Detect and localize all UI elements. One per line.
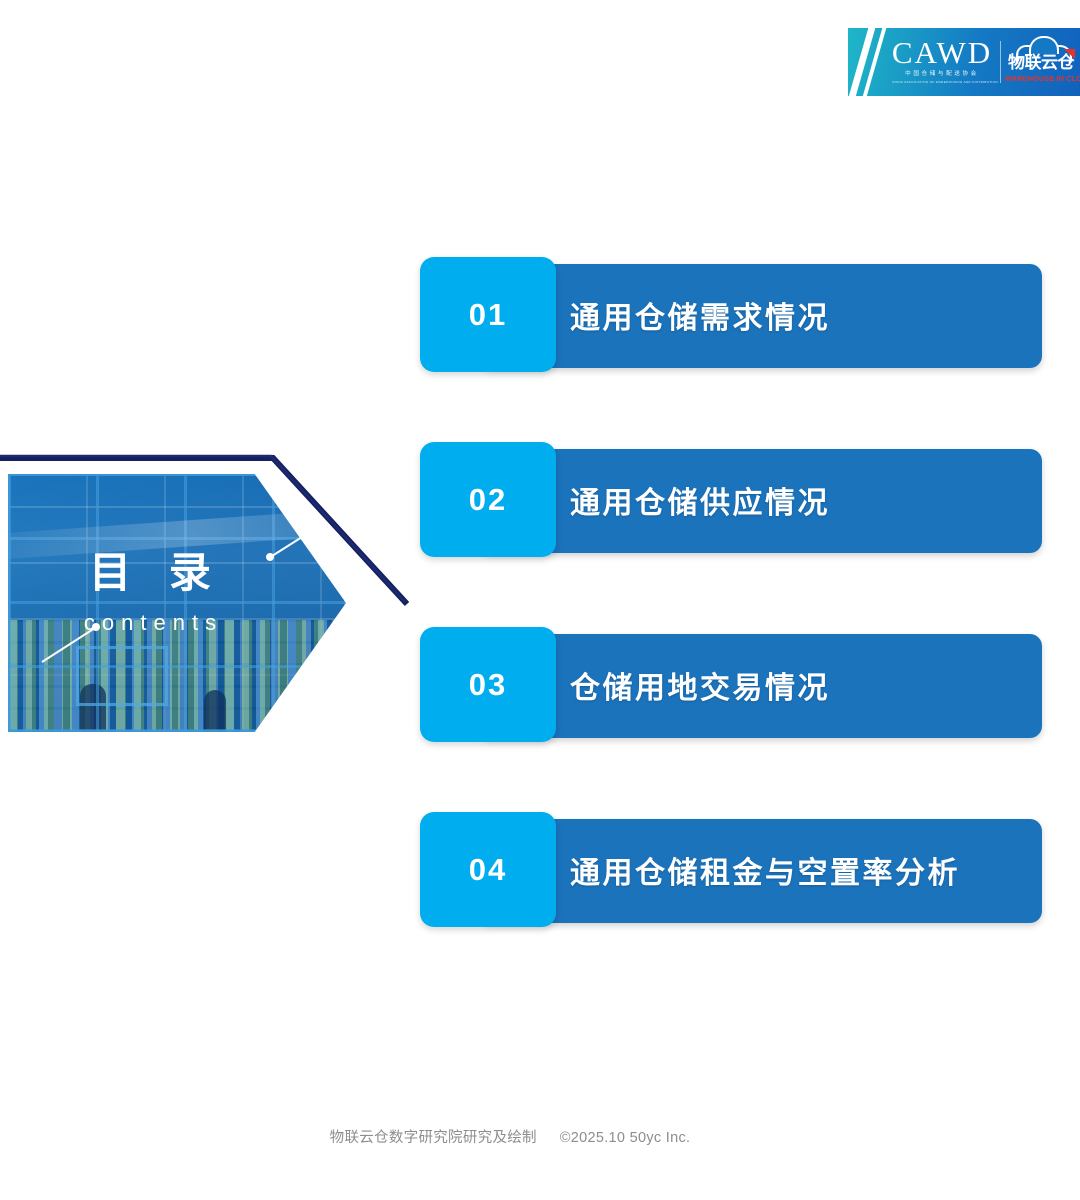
agenda-item[interactable]: 02 通用仓储供应情况: [420, 442, 1045, 557]
wuliangyuncang-logo: 物联云仓 WAREHOUSE IN CLOUD: [1008, 35, 1074, 89]
agenda-label: 通用仓储需求情况: [570, 257, 830, 372]
agenda-item[interactable]: 03 仓储用地交易情况: [420, 627, 1045, 742]
footer: 物联云仓数字研究院研究及绘制 ©2025.10 50yc Inc.: [0, 1128, 1080, 1148]
footer-copyright: ©2025.10 50yc Inc.: [560, 1128, 691, 1148]
cawd-wordmark: CAWD: [890, 36, 994, 70]
cawd-chinese-name: 中国仓储与配送协会: [890, 70, 994, 79]
agenda-label: 仓储用地交易情况: [570, 627, 830, 742]
agenda-number: 01: [469, 298, 507, 332]
agenda-number: 02: [469, 483, 507, 517]
cawd-logo: CAWD 中国仓储与配送协会 CHINA ASSOCIATION OF WARE…: [890, 36, 994, 85]
cawd-english-name: CHINA ASSOCIATION OF WAREHOUSING AND DIS…: [892, 79, 992, 85]
wuliangyuncang-chinese-name: 物联云仓: [1008, 53, 1074, 73]
contents-title-cn: 目 录: [0, 548, 300, 598]
contents-title-group: 目 录 contents: [0, 548, 300, 636]
wuliangyuncang-english-name: WAREHOUSE IN CLOUD: [1005, 74, 1077, 84]
contents-title-en: contents: [0, 610, 300, 636]
agenda-list: 01 通用仓储需求情况 02 通用仓储供应情况 03 仓储用地交易情况 04 通…: [420, 257, 1045, 997]
agenda-number-box: 03: [420, 627, 556, 742]
agenda-item[interactable]: 04 通用仓储租金与空置率分析: [420, 812, 1045, 927]
agenda-label: 通用仓储供应情况: [570, 442, 830, 557]
agenda-item[interactable]: 01 通用仓储需求情况: [420, 257, 1045, 372]
agenda-number: 03: [469, 668, 507, 702]
contents-graphic: 目 录 contents: [0, 452, 410, 742]
agenda-label: 通用仓储租金与空置率分析: [570, 812, 960, 927]
header-logo-bar: CAWD 中国仓储与配送协会 CHINA ASSOCIATION OF WARE…: [848, 28, 1080, 96]
footer-credit: 物联云仓数字研究院研究及绘制: [330, 1128, 537, 1148]
logo-divider: [1000, 41, 1001, 83]
agenda-number-box: 04: [420, 812, 556, 927]
agenda-number-box: 02: [420, 442, 556, 557]
agenda-number: 04: [469, 853, 507, 887]
agenda-number-box: 01: [420, 257, 556, 372]
